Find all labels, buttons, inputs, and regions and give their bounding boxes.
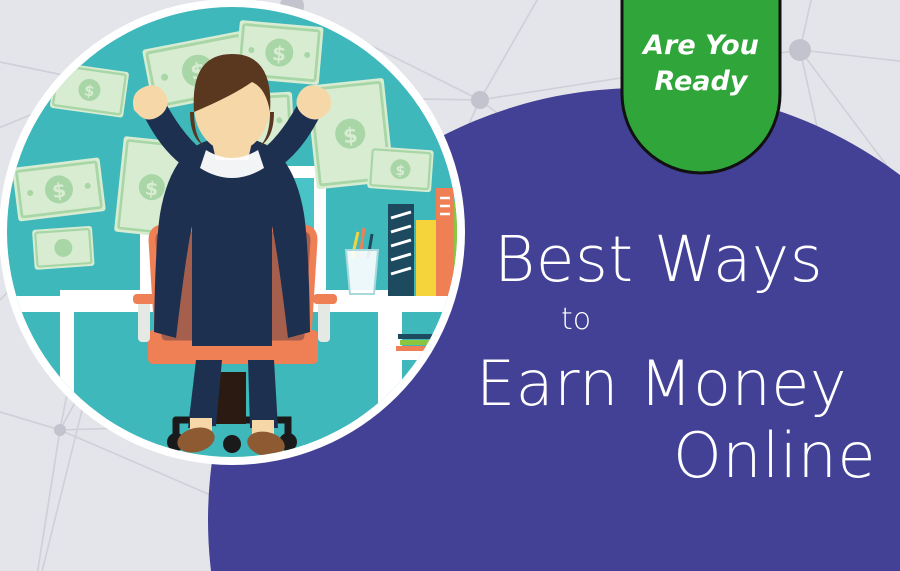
right-leg bbox=[248, 360, 278, 428]
book-orange bbox=[436, 188, 454, 296]
promo-banner: $ $ $ bbox=[0, 0, 900, 571]
svg-text:$: $ bbox=[342, 123, 359, 148]
svg-text:$: $ bbox=[51, 178, 68, 204]
svg-text:$: $ bbox=[271, 41, 287, 66]
svg-text:$: $ bbox=[144, 178, 159, 201]
svg-text:$: $ bbox=[395, 163, 406, 180]
are-you-ready-badge bbox=[622, 0, 780, 173]
banner-artwork: $ $ $ bbox=[0, 0, 900, 571]
chair-column bbox=[216, 372, 246, 424]
book-yellow bbox=[416, 220, 436, 296]
